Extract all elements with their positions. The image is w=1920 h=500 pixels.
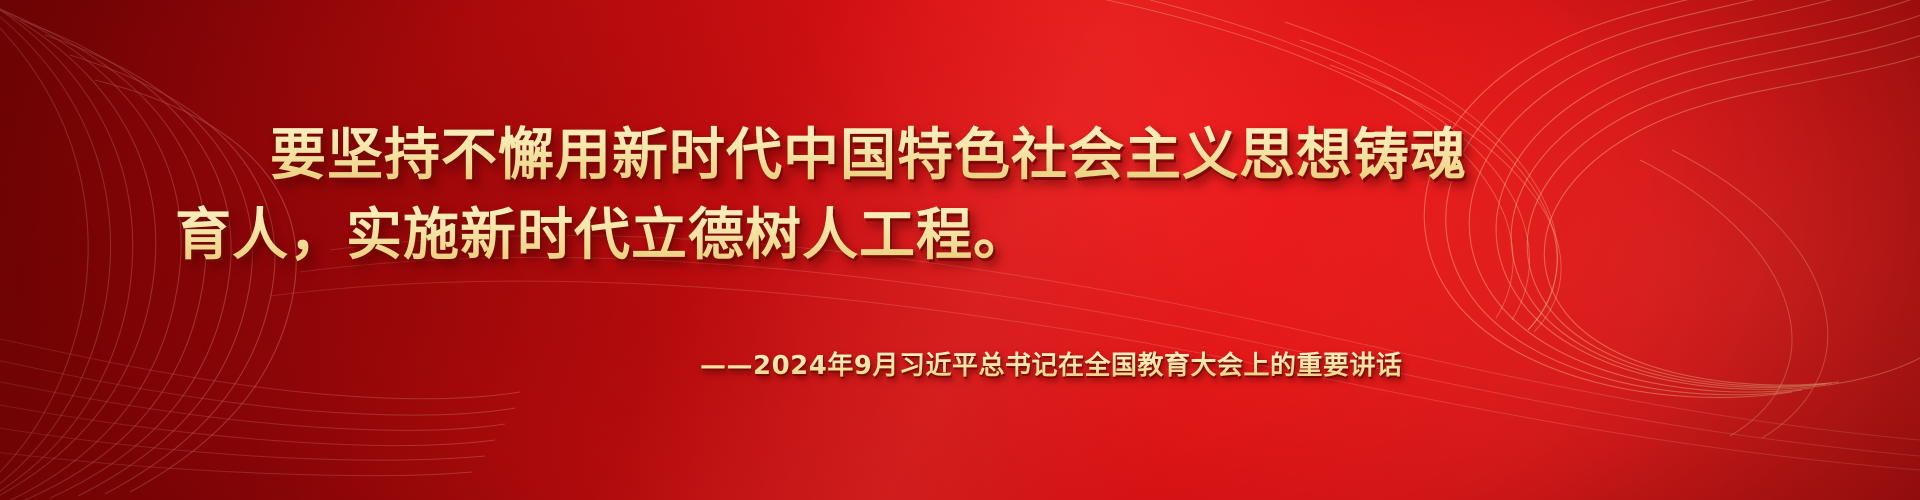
headline-line-2: 育人，实施新时代立德树人工程。 <box>175 190 1030 271</box>
attribution-text: ——2024年9月习近平总书记在全国教育大会上的重要讲话 <box>700 345 1402 382</box>
banner-content: 要坚持不懈用新时代中国特色社会主义思想铸魂 育人，实施新时代立德树人工程。 ——… <box>0 0 1920 500</box>
headline-line-1: 要坚持不懈用新时代中国特色社会主义思想铸魂 <box>270 110 1467 191</box>
propaganda-banner: 要坚持不懈用新时代中国特色社会主义思想铸魂 育人，实施新时代立德树人工程。 ——… <box>0 0 1920 500</box>
